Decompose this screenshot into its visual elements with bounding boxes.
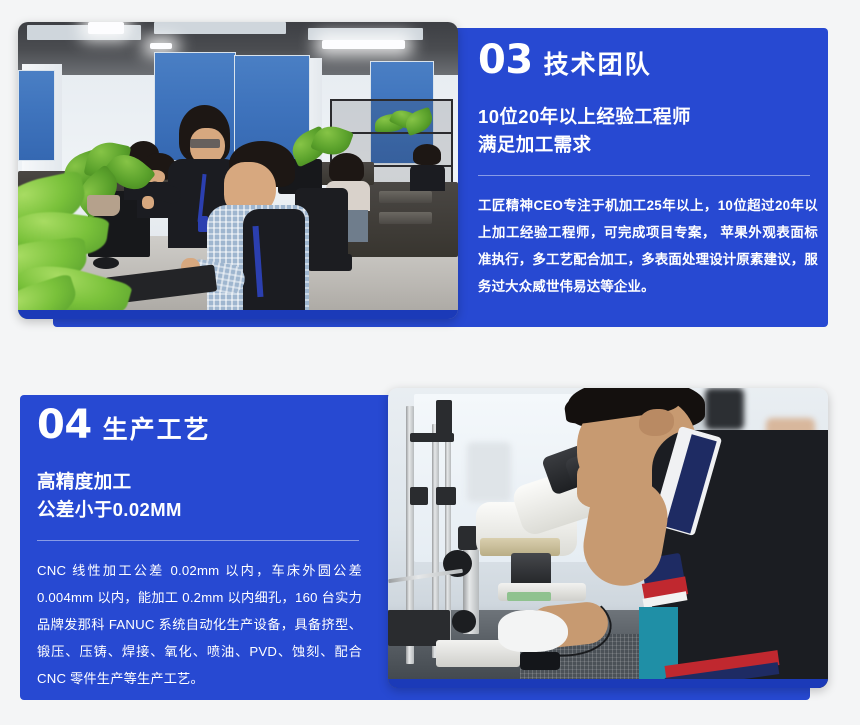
worker-hand [577, 460, 639, 508]
blurred-equipment [705, 388, 745, 430]
section-number: 04 [37, 405, 92, 445]
stand-clamp [410, 433, 454, 442]
worker-ear [639, 409, 674, 436]
divider-04 [37, 540, 359, 541]
stand-clamp [436, 487, 456, 505]
heading-row-04: 04 生产工艺 [37, 405, 362, 445]
microscope-scene [388, 388, 828, 688]
objective-lens [511, 553, 551, 586]
text-block-04: 04 生产工艺 高精度加工 公差小于0.02MM CNC 线性加工公差 0.02… [37, 405, 362, 692]
stand-clamp [410, 487, 428, 505]
photo-bottom-strip [388, 679, 828, 688]
focus-knob [452, 610, 476, 633]
promo-page: 03 技术团队 10位20年以上经验工程师 满足加工需求 工匠精神CEO专注于机… [0, 0, 860, 725]
wrist-watch [520, 652, 560, 670]
photo-production-process [388, 388, 828, 688]
microscope-pillar-top [458, 526, 477, 550]
worker-glove [498, 610, 568, 652]
subheading-line-1: 高精度加工 [37, 468, 362, 496]
blurred-equipment [467, 442, 511, 502]
section-production-process: 04 生产工艺 高精度加工 公差小于0.02MM CNC 线性加工公差 0.02… [0, 0, 860, 725]
section-title: 生产工艺 [103, 418, 211, 443]
subheading-line-2: 公差小于0.02MM [37, 496, 362, 524]
stand-clamp [436, 400, 452, 436]
body-copy-04: CNC 线性加工公差 0.02mm 以内，车床外圆公差0.004mm 以内，能加… [37, 557, 362, 692]
subheading-04: 高精度加工 公差小于0.02MM [37, 468, 362, 524]
